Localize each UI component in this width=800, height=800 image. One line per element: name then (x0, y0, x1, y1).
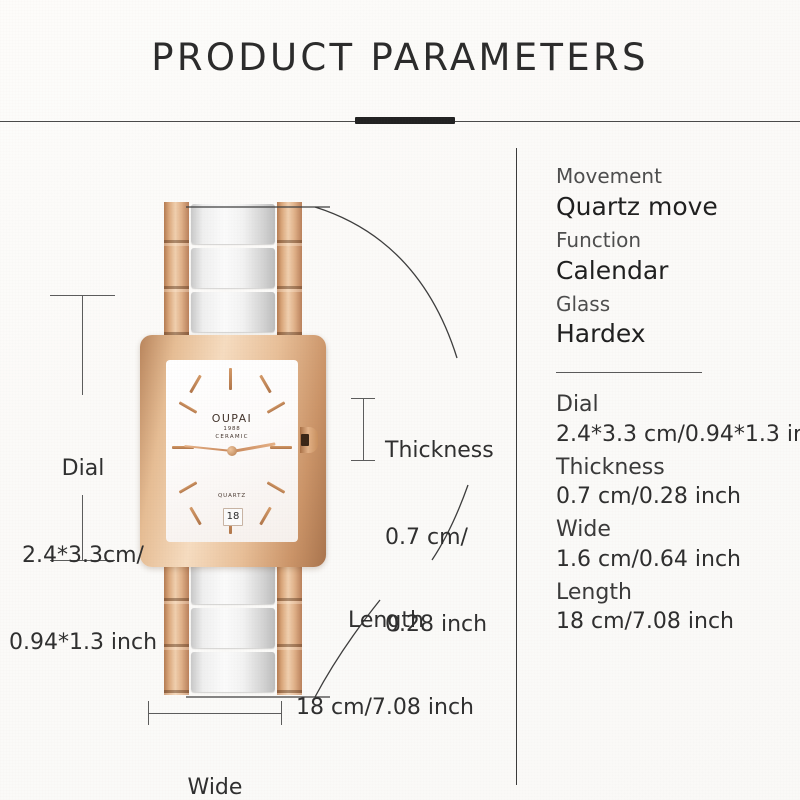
dim-label-thickness: Thickness (556, 453, 792, 483)
header-accent-bar (355, 117, 455, 124)
thickness-tick-top (351, 398, 375, 399)
dim-value-length: 18 cm/7.08 inch (556, 607, 792, 637)
callout-length-label: Length (348, 606, 474, 635)
callout-dial-label: Dial (8, 454, 158, 483)
dial-dimension-line-upper (82, 295, 83, 395)
spec-label-function: Function (556, 227, 792, 254)
dim-label-dial: Dial (556, 390, 792, 420)
spec-value-function: Calendar (556, 254, 792, 287)
product-parameters-page: PRODUCT PARAMETERS (0, 0, 800, 800)
spec-label-movement: Movement (556, 163, 792, 190)
spec-panel-divider (556, 372, 702, 373)
callout-wide-label: Wide (40, 773, 390, 800)
callout-wide: Wide 1.6 cm/0.64 inch (40, 715, 390, 800)
dim-value-thickness: 0.7 cm/0.28 inch (556, 482, 792, 512)
callout-thickness-label: Thickness (385, 436, 494, 465)
dim-value-dial: 2.4*3.3 cm/0.94*1.3 inch (556, 420, 792, 450)
dim-label-length: Length (556, 578, 792, 608)
dial-dimension-tick-top (50, 295, 115, 296)
dim-label-wide: Wide (556, 515, 792, 545)
spec-value-movement: Quartz move (556, 190, 792, 223)
dim-value-wide: 1.6 cm/0.64 inch (556, 545, 792, 575)
specification-panel: Movement Quartz move Function Calendar G… (556, 163, 792, 640)
wide-dimension-line (148, 713, 281, 714)
spec-label-glass: Glass (556, 291, 792, 318)
thickness-dimension-line (363, 398, 364, 460)
thickness-tick-bottom (351, 460, 375, 461)
page-title: PRODUCT PARAMETERS (0, 36, 800, 79)
callout-dial: Dial 2.4*3.3cm/ 0.94*1.3 inch (8, 396, 158, 715)
vertical-divider (516, 148, 517, 785)
spec-value-glass: Hardex (556, 317, 792, 350)
callout-dial-line2: 0.94*1.3 inch (8, 628, 158, 657)
callout-dial-line1: 2.4*3.3cm/ (8, 541, 158, 570)
